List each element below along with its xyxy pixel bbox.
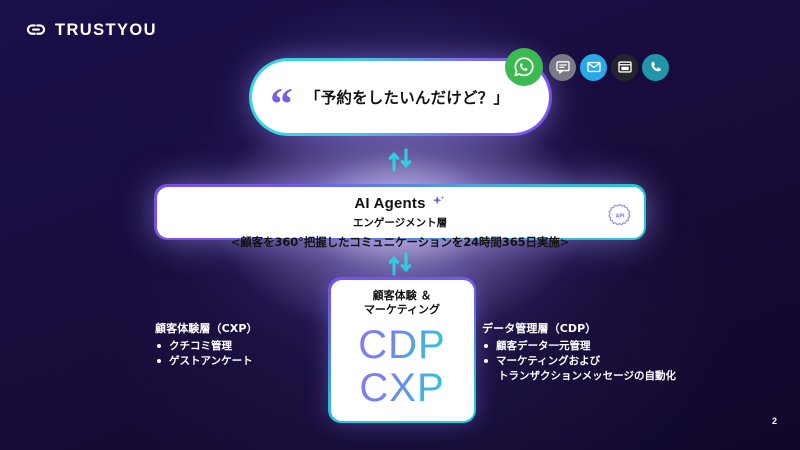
list-item: 顧客データ一元管理 bbox=[482, 339, 717, 353]
cdp-card-border: 顧客体験 ＆ マーケティング CDP CXP bbox=[328, 277, 476, 423]
cxp-label: CXP bbox=[359, 367, 444, 410]
cdp-layer-block: データ管理層（CDP） 顧客データ一元管理 マーケティングおよび トランザクショ… bbox=[482, 320, 717, 383]
cdp-item-0-text: 顧客データ一元管理 bbox=[496, 340, 591, 352]
whatsapp-icon[interactable] bbox=[505, 48, 543, 86]
channel-icon-row bbox=[505, 48, 669, 86]
guest-quote-text: 「予約をしたいんだけど？」 bbox=[305, 86, 509, 108]
quote-mark-icon: “ bbox=[270, 91, 293, 116]
page-number: 2 bbox=[772, 416, 777, 426]
cdp-card-body: 顧客体験 ＆ マーケティング CDP CXP bbox=[331, 280, 474, 421]
cdp-layer-list: 顧客データ一元管理 マーケティングおよび トランザクションメッセージの自動化 bbox=[482, 339, 717, 383]
cdp-header-line-1: 顧客体験 ＆ bbox=[364, 289, 440, 304]
slide-canvas: TRUSTYOU “ 「予約をしたいんだけど？」 bbox=[0, 0, 800, 450]
cdp-item-1-text: マーケティングおよび bbox=[496, 355, 600, 367]
chat-message-icon[interactable] bbox=[549, 54, 576, 81]
ai-panel-title-row: AI Agents bbox=[354, 194, 445, 213]
cdp-label: CDP bbox=[358, 324, 445, 367]
email-icon[interactable] bbox=[580, 54, 607, 81]
cdp-item-1-continuation: トランザクションメッセージの自動化 bbox=[496, 369, 717, 383]
ai-agents-title: AI Agents bbox=[354, 195, 425, 212]
ai-panel-body: AI Agents エンゲージメント層 API bbox=[157, 187, 644, 238]
ai-agents-subtitle: エンゲージメント層 bbox=[353, 215, 447, 230]
webchat-icon[interactable] bbox=[611, 54, 638, 81]
brand-name: TRUSTYOU bbox=[55, 22, 157, 39]
ai-agents-panel: AI Agents エンゲージメント層 API bbox=[154, 184, 646, 240]
cxp-layer-block: 顧客体験層（CXP） クチコミ管理 ゲストアンケート bbox=[155, 320, 330, 369]
cdp-layer-title: データ管理層（CDP） bbox=[482, 320, 717, 336]
phone-icon[interactable] bbox=[642, 54, 669, 81]
cdp-cxp-card: 顧客体験 ＆ マーケティング CDP CXP bbox=[328, 277, 476, 423]
api-gear-label: API bbox=[615, 213, 624, 219]
sparkle-icon bbox=[431, 194, 446, 213]
ai-agents-caption: <顧客を360°把握したコミュニケーションを24時間365日実施> bbox=[0, 234, 800, 250]
brand-logo: TRUSTYOU bbox=[26, 20, 157, 40]
list-item: ゲストアンケート bbox=[155, 354, 330, 368]
ai-panel-border: AI Agents エンゲージメント層 API bbox=[154, 184, 646, 240]
list-item: クチコミ管理 bbox=[155, 339, 330, 353]
api-gear-icon[interactable]: API bbox=[608, 203, 632, 232]
cdp-card-header: 顧客体験 ＆ マーケティング bbox=[364, 289, 440, 319]
up-down-arrows-bottom bbox=[386, 252, 416, 276]
cxp-item-1-text: ゲストアンケート bbox=[169, 355, 253, 367]
cxp-layer-list: クチコミ管理 ゲストアンケート bbox=[155, 339, 330, 369]
cxp-item-0-text: クチコミ管理 bbox=[169, 340, 232, 352]
trustyou-link-logo-icon bbox=[26, 20, 46, 40]
list-item: マーケティングおよび トランザクションメッセージの自動化 bbox=[482, 354, 717, 383]
up-down-arrows-top bbox=[386, 148, 416, 172]
cdp-header-line-2: マーケティング bbox=[364, 303, 440, 318]
cxp-layer-title: 顧客体験層（CXP） bbox=[155, 320, 330, 336]
